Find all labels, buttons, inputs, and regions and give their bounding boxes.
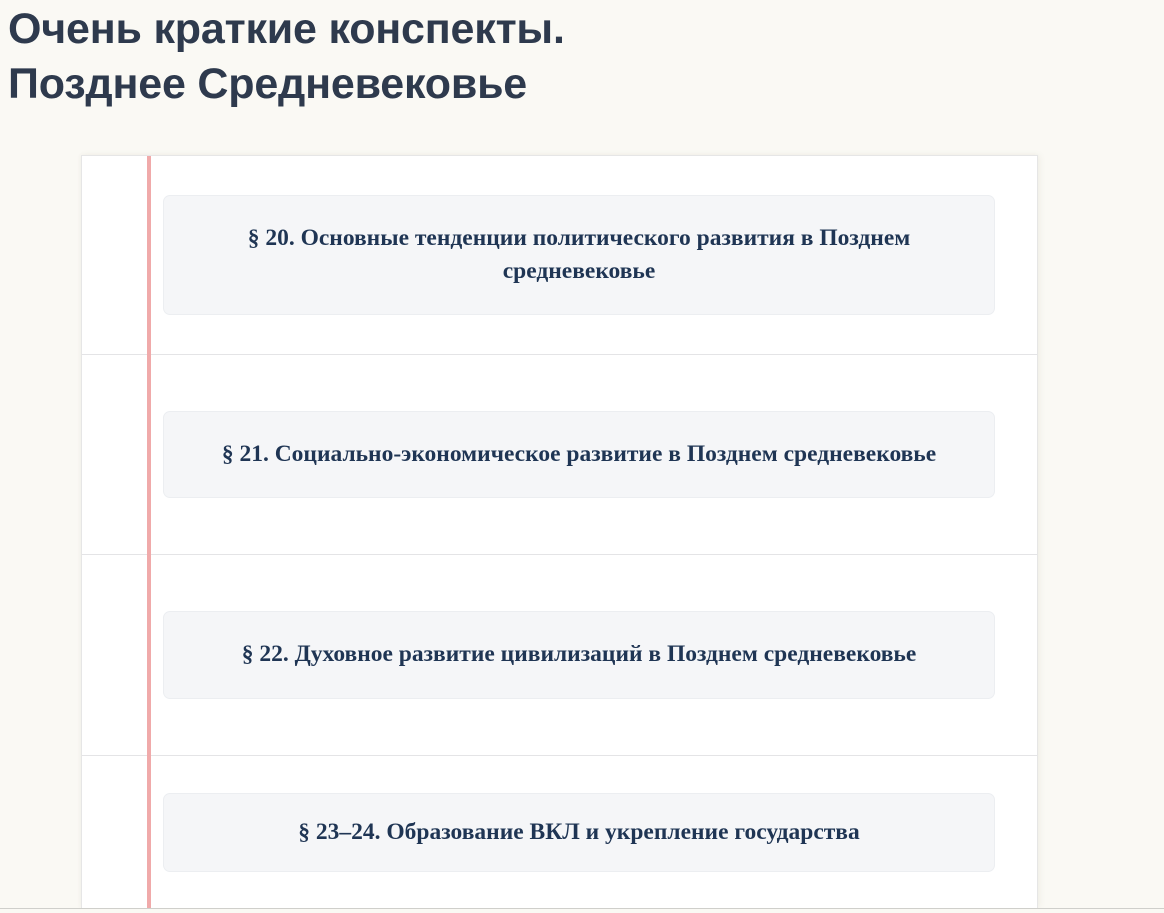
list-item: § 20. Основные тенденции политического р… (82, 156, 1037, 355)
list-item: § 23–24. Образование ВКЛ и укрепление го… (82, 756, 1037, 908)
page-title: Очень краткие конспекты. Позднее Среднев… (8, 2, 1008, 112)
section-card-22[interactable]: § 22. Духовное развитие цивилизаций в По… (163, 611, 995, 698)
list-item: § 22. Духовное развитие цивилизаций в По… (82, 555, 1037, 756)
section-card-21[interactable]: § 21. Социально-экономическое развитие в… (163, 411, 995, 498)
section-list: § 20. Основные тенденции политического р… (82, 156, 1037, 908)
section-card-20[interactable]: § 20. Основные тенденции политического р… (163, 195, 995, 316)
page-bottom-fill (0, 909, 1164, 913)
section-card-23-24[interactable]: § 23–24. Образование ВКЛ и укрепление го… (163, 793, 995, 872)
page-container: Очень краткие конспекты. Позднее Среднев… (0, 0, 1164, 913)
list-item: § 21. Социально-экономическое развитие в… (82, 355, 1037, 555)
notebook-sheet: § 20. Основные тенденции политического р… (81, 155, 1038, 908)
